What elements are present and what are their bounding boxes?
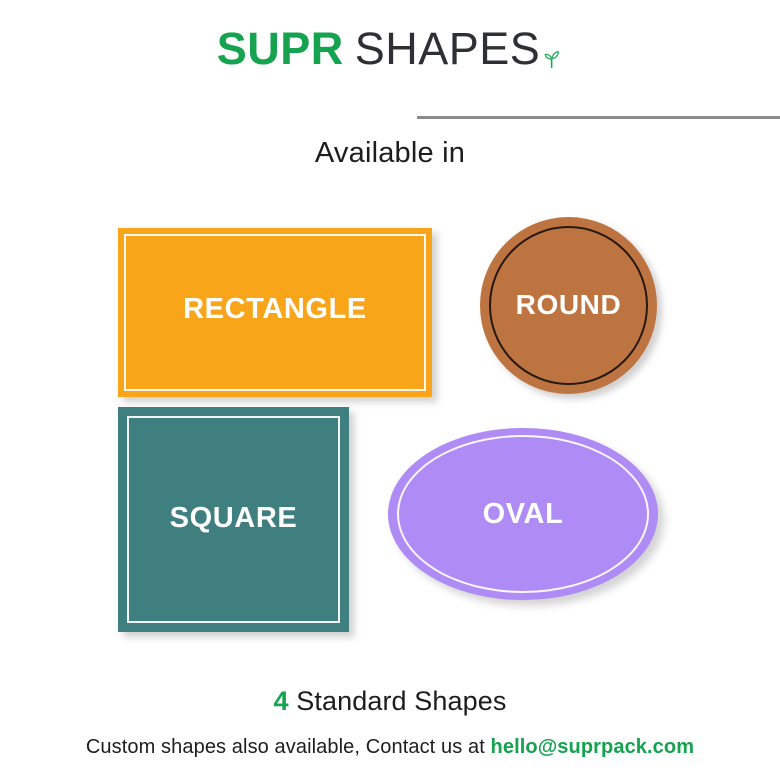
header: SUPRSHAPES — [0, 26, 780, 71]
leaf-sprout-icon — [541, 47, 563, 69]
shape-card-round[interactable]: ROUND — [480, 217, 657, 394]
brand-wordmark: SUPRSHAPES — [217, 26, 564, 71]
footer-count-number: 4 — [274, 686, 289, 716]
round-inner-border — [489, 226, 648, 385]
square-inner-border — [127, 416, 340, 623]
shape-card-square[interactable]: SQUARE — [118, 407, 349, 632]
oval-inner-border — [397, 435, 649, 593]
shapes-infographic: SUPRSHAPES Available in RECTANGLE ROUND … — [0, 0, 780, 780]
brand-secondary-text: SHAPES — [355, 23, 541, 74]
footer-contact-email[interactable]: hello@suprpack.com — [491, 736, 695, 758]
shape-card-rectangle[interactable]: RECTANGLE — [118, 228, 432, 397]
subtitle-available-in: Available in — [0, 137, 780, 170]
brand-underline-rule — [417, 116, 780, 119]
footer-contact-line: Custom shapes also available, Contact us… — [0, 736, 780, 759]
footer-count-suffix: Standard Shapes — [296, 686, 506, 716]
shape-card-oval[interactable]: OVAL — [388, 428, 658, 600]
brand-primary-text: SUPR — [217, 23, 344, 74]
footer-contact-prefix: Custom shapes also available, Contact us… — [86, 736, 485, 758]
footer-shape-count: 4 Standard Shapes — [0, 686, 780, 717]
rectangle-inner-border — [124, 234, 426, 391]
